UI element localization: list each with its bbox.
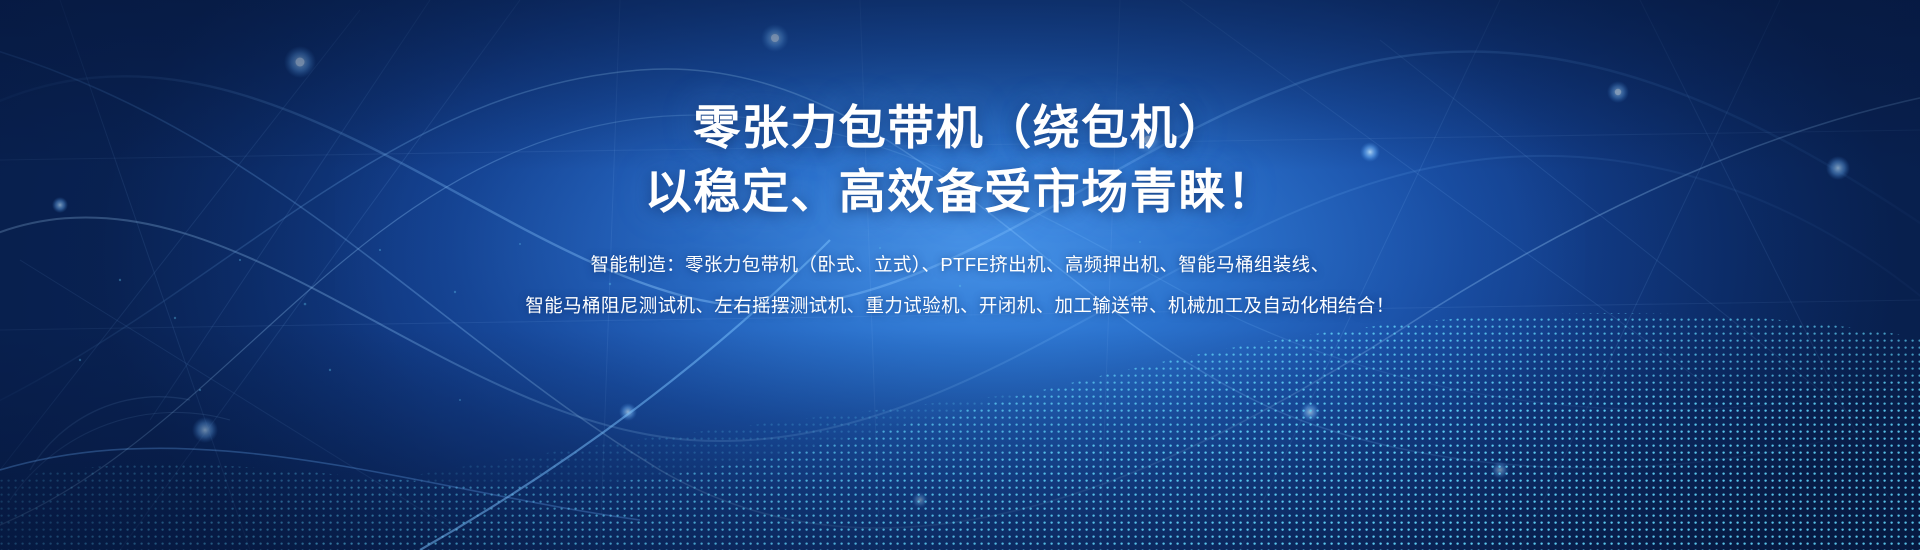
subtitle-line-1: 智能制造：零张力包带机（卧式、立式）、PTFE挤出机、高频押出机、智能马桶组装线… (525, 244, 1394, 285)
hero-banner: 零张力包带机（绕包机） 以稳定、高效备受市场青睐！ 智能制造：零张力包带机（卧式… (0, 0, 1920, 550)
subtitle-line-2: 智能马桶阻尼测试机、左右摇摆测试机、重力试验机、开闭机、加工输送带、机械加工及自… (525, 285, 1394, 326)
subtitle-block: 智能制造：零张力包带机（卧式、立式）、PTFE挤出机、高频押出机、智能马桶组装线… (525, 244, 1394, 326)
banner-content: 零张力包带机（绕包机） 以稳定、高效备受市场青睐！ 智能制造：零张力包带机（卧式… (0, 0, 1920, 550)
headline-line-1: 零张力包带机（绕包机） (693, 98, 1227, 158)
headline-line-2: 以稳定、高效备受市场青睐！ (645, 162, 1276, 222)
